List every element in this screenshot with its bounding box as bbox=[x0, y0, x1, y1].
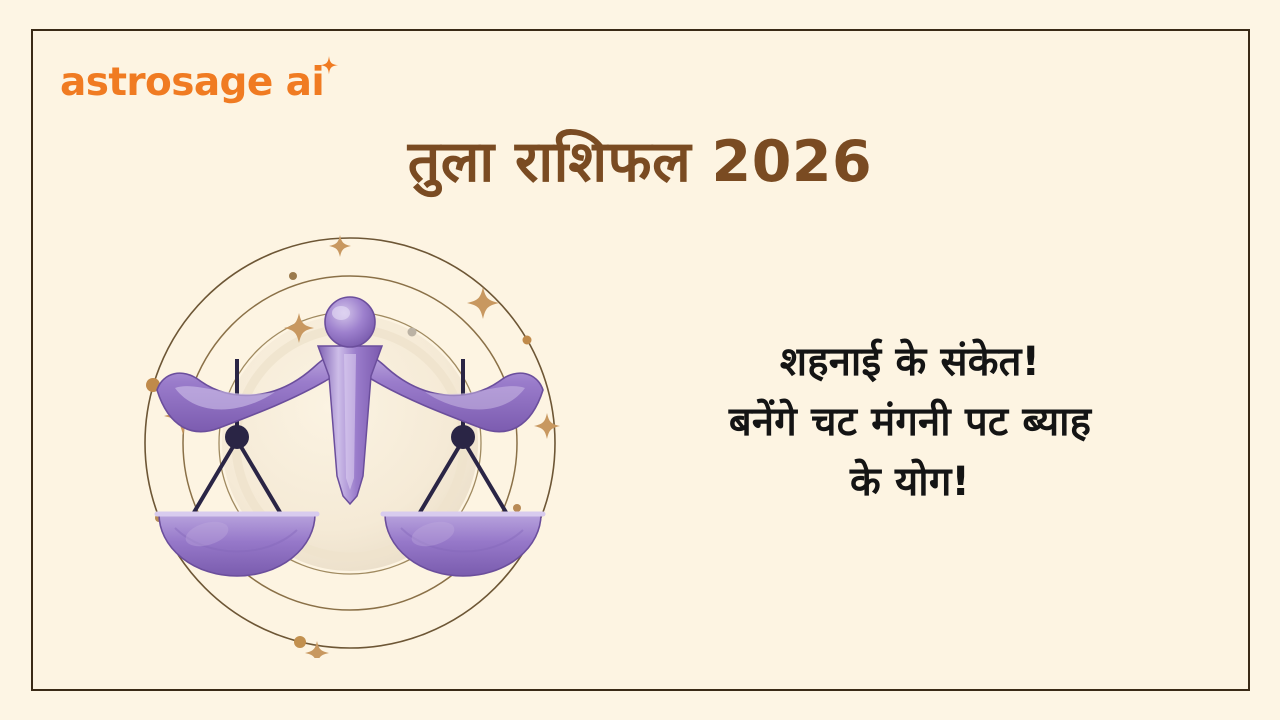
libra-zodiac-illustration bbox=[135, 228, 565, 658]
tagline-line-1: शहनाई के संकेत! bbox=[600, 332, 1220, 392]
right-pan bbox=[383, 514, 543, 576]
astrosage-logo[interactable]: astrosage ai bbox=[60, 58, 324, 110]
tagline-line-2: बनेंगे चट मंगनी पट ब्याह bbox=[600, 392, 1220, 452]
logo-text: astrosage ai bbox=[60, 58, 324, 108]
left-knot bbox=[225, 425, 249, 449]
tagline-line-3: के योग! bbox=[600, 452, 1220, 512]
right-knot bbox=[451, 425, 475, 449]
scale-knob bbox=[325, 297, 375, 347]
sparkle-icon bbox=[318, 56, 340, 78]
left-pan bbox=[157, 514, 317, 576]
page-title: तुला राशिफल 2026 bbox=[0, 126, 1280, 198]
poster-canvas: astrosage ai तुला राशिफल 2026 bbox=[0, 0, 1280, 720]
tagline-block: शहनाई के संकेत! बनेंगे चट मंगनी पट ब्याह… bbox=[600, 332, 1220, 512]
